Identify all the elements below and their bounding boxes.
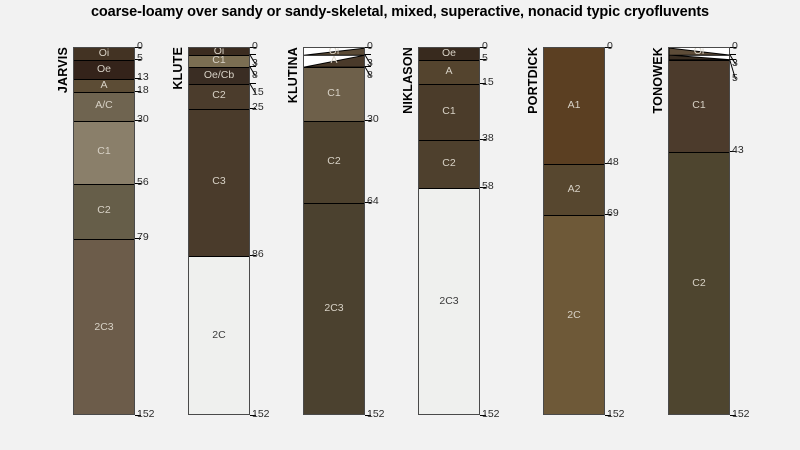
depth-tick-label: 0 <box>482 40 488 52</box>
horizon-oi <box>74 48 134 60</box>
horizon-boundary-line <box>544 164 604 165</box>
depth-tick-label: 152 <box>732 408 750 420</box>
horizon-2c <box>544 215 604 415</box>
horizon-boundary-line <box>304 203 364 204</box>
horizon-oi <box>189 48 249 55</box>
depth-tick-label: 64 <box>367 195 379 207</box>
horizon-c2 <box>419 140 479 188</box>
horizon-wedge <box>669 55 730 61</box>
depth-tick-label: 56 <box>137 176 149 188</box>
profile-name-label: PORTDICK <box>526 47 540 114</box>
horizon-boundary-line <box>419 140 479 141</box>
depth-tick-label: 0 <box>732 40 738 52</box>
profile-column: OiOeAA/CC1C22C3 <box>73 47 135 415</box>
horizon-a <box>419 60 479 84</box>
horizon-boundary-line <box>74 239 134 240</box>
depth-tick-label: 43 <box>732 144 744 156</box>
horizon-oe <box>419 48 479 60</box>
horizon-boundary-line <box>189 256 249 257</box>
horizon-boundary-line <box>419 84 479 85</box>
depth-tick-label: 48 <box>607 156 619 168</box>
profile-name-label: TONOWEK <box>651 47 665 113</box>
horizon-c2 <box>189 84 249 108</box>
horizon-a <box>74 79 134 91</box>
profile-column: C1C2Oi <box>668 47 730 415</box>
depth-tick-label: 18 <box>137 84 149 96</box>
horizon-boundary-line <box>419 188 479 189</box>
profile-column: A1A22C <box>543 47 605 415</box>
horizon-boundary-line <box>304 121 364 122</box>
horizon-2c3 <box>419 188 479 415</box>
horizon-oe <box>74 60 134 79</box>
horizon-boundary-line <box>189 109 249 110</box>
depth-tick-label: 25 <box>252 101 264 113</box>
horizon-oecb <box>189 67 249 84</box>
depth-tick-label: 152 <box>367 408 385 420</box>
depth-tick-label: 13 <box>137 71 149 83</box>
horizon-boundary-line <box>74 92 134 93</box>
horizon-c2 <box>669 152 729 415</box>
horizon-2c3 <box>304 203 364 415</box>
profile-name-label: NIKLASON <box>401 47 415 114</box>
profile-name-label: JARVIS <box>56 47 70 93</box>
horizon-ac <box>74 92 134 121</box>
depth-tick-label: 30 <box>137 113 149 125</box>
horizon-boundary-line <box>74 184 134 185</box>
profile-name-label: KLUTE <box>171 47 185 90</box>
depth-tick-label: 152 <box>482 408 500 420</box>
depth-tick-label: 0 <box>607 40 613 52</box>
profile-column: C1C22C3OiA <box>303 47 365 415</box>
horizon-boundary-line <box>74 60 134 61</box>
depth-tick-label: 152 <box>137 408 155 420</box>
horizon-boundary-line <box>669 152 729 153</box>
depth-tick-label: 38 <box>482 132 494 144</box>
depth-tick-label: 0 <box>367 40 373 52</box>
depth-tick-label: 152 <box>607 408 625 420</box>
soil-profiles-panel: JARVISOiOeAA/CC1C22C3051318305679152KLUT… <box>0 47 800 417</box>
depth-tick-mark <box>730 59 736 60</box>
depth-tick-label: 30 <box>367 113 379 125</box>
depth-tick-label: 5 <box>482 52 488 64</box>
depth-tick-label: 58 <box>482 180 494 192</box>
horizon-c2 <box>74 184 134 240</box>
depth-tick-label: 15 <box>482 76 494 88</box>
horizon-2c3 <box>74 239 134 415</box>
horizon-2c <box>189 256 249 415</box>
depth-tick-label: 5 <box>137 52 143 64</box>
horizon-boundary-line <box>189 55 249 56</box>
horizon-c1 <box>419 84 479 140</box>
profile-column: OeAC1C22C3 <box>418 47 480 415</box>
page-title: coarse-loamy over sandy or sandy-skeleta… <box>0 4 800 20</box>
horizon-c1 <box>669 60 729 152</box>
depth-tick-label: 79 <box>137 231 149 243</box>
horizon-boundary-line <box>74 121 134 122</box>
horizon-c2 <box>304 121 364 203</box>
horizon-boundary-line <box>74 79 134 80</box>
horizon-a2 <box>544 164 604 215</box>
profile-column: OiC1Oe/CbC2C32C <box>188 47 250 415</box>
horizon-c3 <box>189 109 249 257</box>
horizon-c1 <box>189 55 249 67</box>
depth-tick-label: 86 <box>252 248 264 260</box>
horizon-boundary-line <box>419 60 479 61</box>
depth-tick-label: 0 <box>137 40 143 52</box>
horizon-boundary-line <box>189 84 249 85</box>
horizon-wedge <box>304 55 365 68</box>
depth-tick-label: 69 <box>607 207 619 219</box>
depth-tick-label: 0 <box>252 40 258 52</box>
depth-tick-label: 152 <box>252 408 270 420</box>
horizon-c1 <box>74 121 134 184</box>
profile-name-label: KLUTINA <box>286 47 300 103</box>
horizon-c1 <box>304 67 364 120</box>
horizon-boundary-line <box>544 215 604 216</box>
horizon-a1 <box>544 48 604 164</box>
horizon-boundary-line <box>189 67 249 68</box>
